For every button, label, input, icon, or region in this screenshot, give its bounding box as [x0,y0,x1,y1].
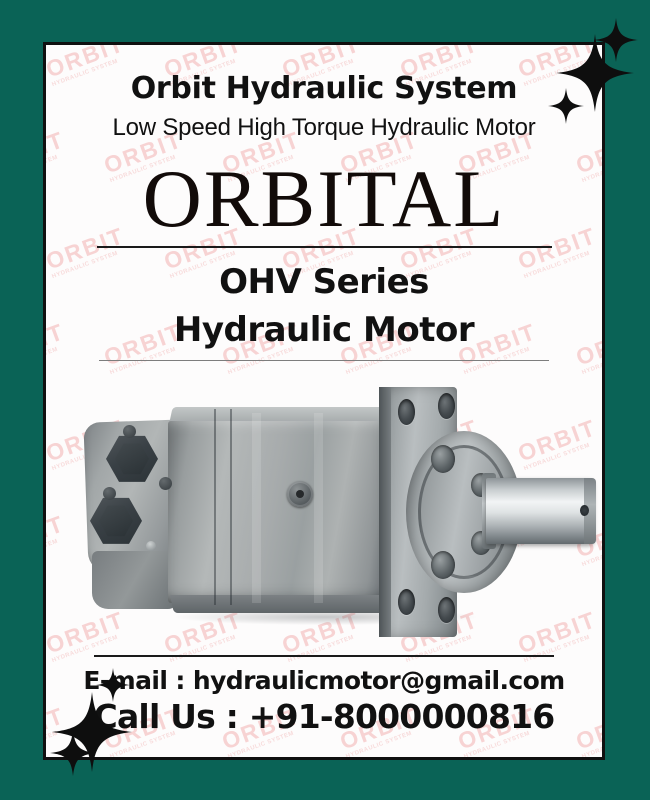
motor-port-block-lower [92,551,178,609]
motor-flange-bolt-hole-4 [438,597,455,623]
motor-casting-seam-2 [230,409,232,605]
motor-shaft-center-hole [580,505,589,516]
poster-card: ORBITHYDRAULIC SYSTEMORBITHYDRAULIC SYST… [43,42,605,760]
motor-port-stud-4 [146,541,156,551]
motor-flange-bolt-hole-1 [398,399,415,425]
company-tagline: Low Speed High Torque Hydraulic Motor [46,114,602,142]
motor-port-stud-3 [103,487,116,500]
motor-output-shaft [486,478,594,544]
contact-email[interactable]: E-mail : hydraulicmotor@gmail.com [46,666,602,695]
motor-port-stud-1 [123,425,136,438]
motor-hub-bolt-2 [431,551,455,579]
product-name: Hydraulic Motor [46,310,602,350]
motor-casting-seam-1 [214,409,216,605]
company-name: Orbit Hydraulic System [46,71,602,106]
motor-hub-bolt-1 [431,445,455,473]
poster-content: Orbit Hydraulic System Low Speed High To… [46,71,602,760]
divider-under-brand [97,246,552,248]
motor-port-stud-2 [159,477,172,490]
series-name: OHV Series [46,262,602,302]
motor-flange-bolt-hole-2 [398,589,415,615]
motor-body [168,421,383,603]
motor-body-highlight-b [314,413,323,603]
brand-name: ORBITAL [46,160,602,238]
divider-under-product [99,360,549,361]
divider-above-contact [94,655,554,657]
contact-phone[interactable]: Call Us : +91-8000000816 [46,697,602,736]
motor-flange-edge [379,387,391,637]
product-image [46,373,602,641]
motor-drain-port [287,481,313,507]
motor-flange-bolt-hole-3 [438,393,455,419]
motor-body-bottom-chamfer [170,595,384,613]
motor-body-highlight-a [252,413,261,603]
